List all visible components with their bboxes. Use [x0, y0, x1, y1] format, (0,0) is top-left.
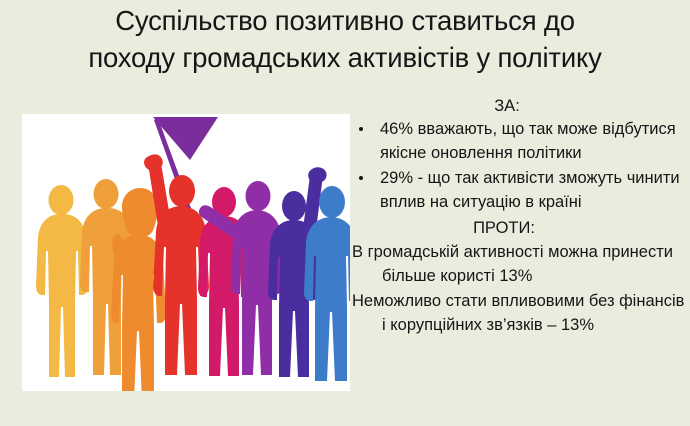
content-column: ЗА: 46% вважають, що так може відбутися …: [352, 94, 688, 426]
list-item-label: 46% вважають, що так може відбутися якіс…: [380, 118, 688, 165]
slide: Суспільство позитивно ставиться до поход…: [0, 0, 690, 426]
heading-against: ПРОТИ:: [352, 216, 688, 240]
title-line-1: Суспільство позитивно ставиться до: [0, 2, 690, 39]
list-item: 46% вважають, що так може відбутися якіс…: [352, 118, 688, 165]
list-item: 29% - що так активісти зможуть чинити вп…: [352, 167, 688, 214]
for-bullet-list: 46% вважають, що так може відбутися якіс…: [352, 118, 688, 214]
title-line-2: походу громадських активістів у політику: [0, 39, 690, 76]
crowd-illustration-icon: [22, 114, 350, 391]
heading-for: ЗА:: [352, 94, 688, 118]
against-item-1: В громадській активності можна принести …: [352, 240, 688, 288]
bullet-dot-icon: [359, 176, 363, 180]
list-item-label: 29% - що так активісти зможуть чинити вп…: [380, 167, 688, 214]
page-title: Суспільство позитивно ставиться до поход…: [0, 2, 690, 76]
illustration-panel: [22, 114, 350, 391]
against-item-2: Неможливо стати впливовими без фінансів …: [352, 289, 688, 337]
bullet-dot-icon: [359, 127, 363, 131]
